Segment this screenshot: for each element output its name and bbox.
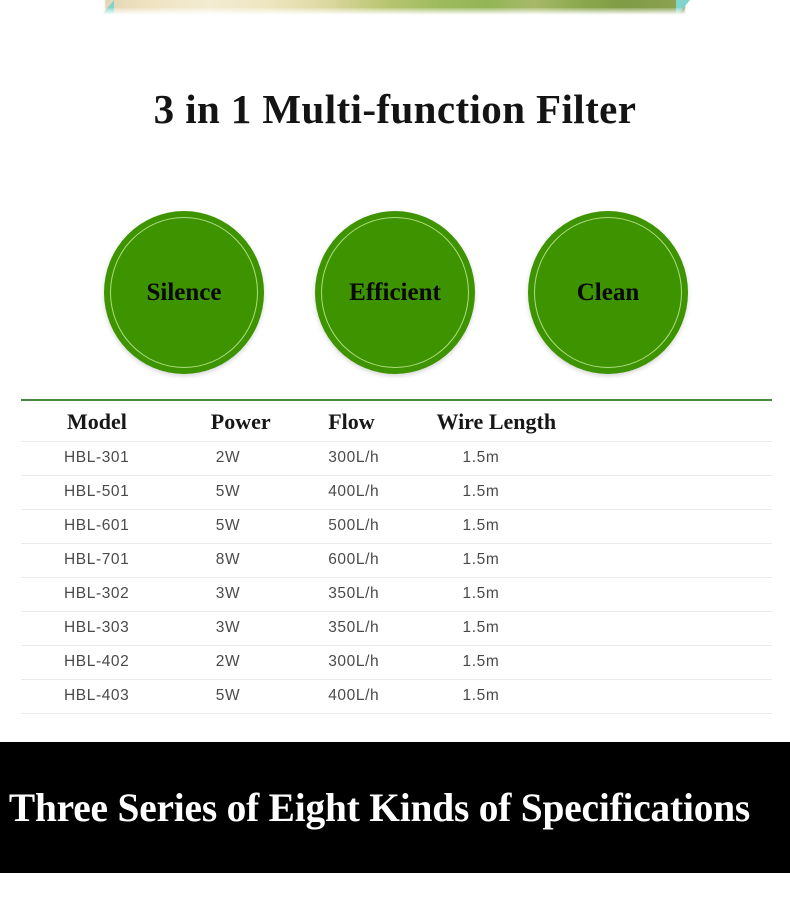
- table-row: HBL-302 3W 350L/h 1.5m: [21, 578, 772, 612]
- table-head: Model Power Flow Wire Length: [21, 400, 772, 442]
- table-row: HBL-601 5W 500L/h 1.5m: [21, 510, 772, 544]
- cell-power: 5W: [207, 680, 328, 714]
- cell-flow: 400L/h: [328, 680, 422, 714]
- feature-circle-clean: Clean: [528, 211, 688, 374]
- bottom-banner-text: Three Series of Eight Kinds of Specifica…: [0, 784, 750, 831]
- cell-model: HBL-403: [21, 680, 207, 714]
- cell-wire-length: 1.5m: [422, 442, 772, 476]
- specification-table: Model Power Flow Wire Length HBL-301 2W …: [21, 399, 772, 714]
- cell-flow: 400L/h: [328, 476, 422, 510]
- cell-wire-length: 1.5m: [422, 612, 772, 646]
- feature-circle-group: Silence Efficient Clean: [0, 211, 790, 376]
- cell-power: 3W: [207, 612, 328, 646]
- cell-power: 3W: [207, 578, 328, 612]
- page-title: 3 in 1 Multi-function Filter: [0, 85, 790, 133]
- cell-flow: 300L/h: [328, 646, 422, 680]
- cell-model: HBL-302: [21, 578, 207, 612]
- feature-label: Efficient: [349, 279, 441, 307]
- table-row: HBL-701 8W 600L/h 1.5m: [21, 544, 772, 578]
- table-body: HBL-301 2W 300L/h 1.5m HBL-501 5W 400L/h…: [21, 442, 772, 714]
- table-row: HBL-501 5W 400L/h 1.5m: [21, 476, 772, 510]
- feature-label: Silence: [147, 279, 222, 307]
- column-header-flow: Flow: [328, 400, 422, 442]
- cell-wire-length: 1.5m: [422, 544, 772, 578]
- cell-model: HBL-601: [21, 510, 207, 544]
- cell-power: 2W: [207, 442, 328, 476]
- table-header-row: Model Power Flow Wire Length: [21, 400, 772, 442]
- table-row: HBL-303 3W 350L/h 1.5m: [21, 612, 772, 646]
- cell-power: 8W: [207, 544, 328, 578]
- cell-flow: 350L/h: [328, 578, 422, 612]
- product-photo-strip: [0, 0, 790, 17]
- cell-wire-length: 1.5m: [422, 578, 772, 612]
- table-row: HBL-301 2W 300L/h 1.5m: [21, 442, 772, 476]
- feature-circle-silence: Silence: [104, 211, 264, 374]
- cell-wire-length: 1.5m: [422, 510, 772, 544]
- cell-model: HBL-303: [21, 612, 207, 646]
- cell-flow: 350L/h: [328, 612, 422, 646]
- cell-flow: 300L/h: [328, 442, 422, 476]
- cell-model: HBL-701: [21, 544, 207, 578]
- cell-power: 5W: [207, 476, 328, 510]
- cell-power: 2W: [207, 646, 328, 680]
- cell-model: HBL-402: [21, 646, 207, 680]
- table-row: HBL-402 2W 300L/h 1.5m: [21, 646, 772, 680]
- cell-wire-length: 1.5m: [422, 646, 772, 680]
- cell-model: HBL-501: [21, 476, 207, 510]
- cell-wire-length: 1.5m: [422, 680, 772, 714]
- cell-flow: 600L/h: [328, 544, 422, 578]
- column-header-power: Power: [207, 400, 328, 442]
- feature-circle-efficient: Efficient: [315, 211, 475, 374]
- photo-fade-overlay: [0, 8, 790, 17]
- cell-flow: 500L/h: [328, 510, 422, 544]
- cell-wire-length: 1.5m: [422, 476, 772, 510]
- table-row: HBL-403 5W 400L/h 1.5m: [21, 680, 772, 714]
- cell-model: HBL-301: [21, 442, 207, 476]
- feature-label: Clean: [577, 279, 640, 307]
- column-header-model: Model: [21, 400, 207, 442]
- column-header-wire-length: Wire Length: [422, 400, 772, 442]
- cell-power: 5W: [207, 510, 328, 544]
- bottom-banner: Three Series of Eight Kinds of Specifica…: [0, 742, 790, 873]
